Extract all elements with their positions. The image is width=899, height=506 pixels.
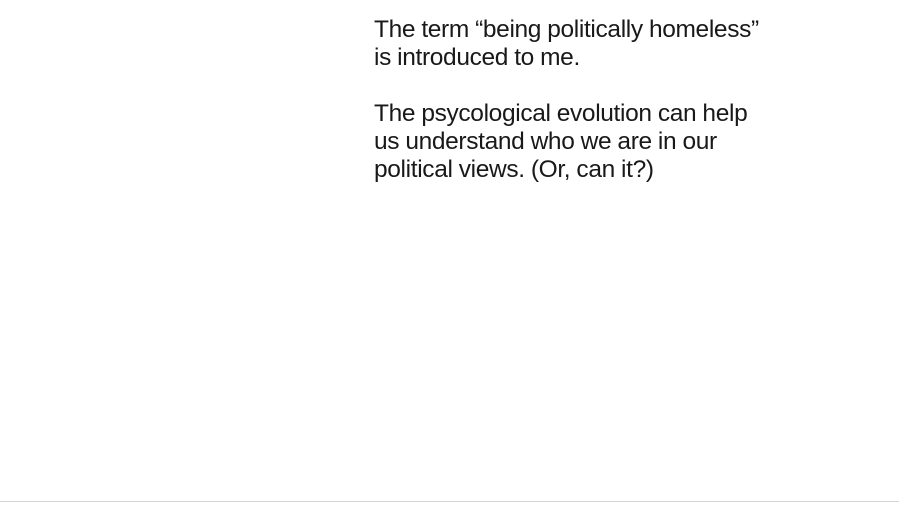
- bottom-divider: [0, 501, 899, 502]
- slide-text-block: The term “being politically homeless” is…: [374, 16, 766, 184]
- paragraph-spacer: [374, 72, 766, 100]
- paragraph-1: The term “being politically homeless” is…: [374, 16, 766, 72]
- paragraph-2: The psycological evolution can help us u…: [374, 100, 766, 184]
- slide-canvas: The term “being politically homeless” is…: [0, 0, 899, 506]
